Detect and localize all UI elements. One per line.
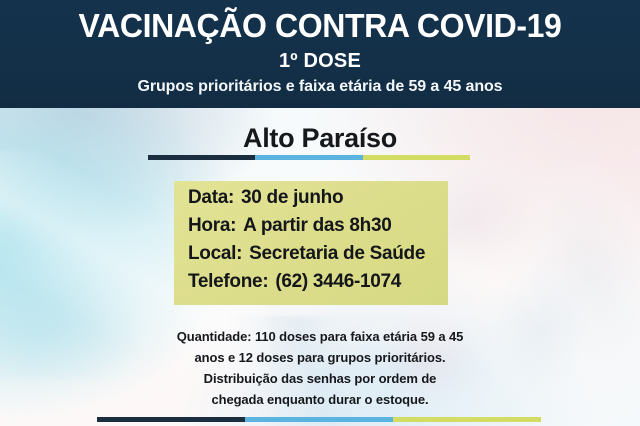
info-row-date: Data: 30 de junho	[188, 187, 448, 215]
header-band: VACINAÇÃO CONTRA COVID-19 1º DOSE Grupos…	[0, 0, 640, 108]
dose-subtitle: 1º DOSE	[0, 50, 640, 73]
divider-top	[148, 155, 470, 160]
quantity-line-2: anos e 12 doses para grupos prioritários…	[118, 347, 522, 368]
vaccination-announcement-poster: VACINAÇÃO CONTRA COVID-19 1º DOSE Grupos…	[0, 0, 640, 426]
divider-segment-dark	[148, 155, 255, 160]
quantity-note: Quantidade: 110 doses para faixa etária …	[118, 326, 522, 410]
quantity-line-3: Distribuição das senhas por ordem de	[118, 368, 522, 389]
divider-segment-blue	[255, 155, 362, 160]
info-row-location: Local: Secretaria de Saúde	[188, 243, 448, 271]
divider-bottom	[97, 417, 541, 422]
info-value-time: A partir das 8h30	[243, 215, 391, 237]
divider-segment-dark	[97, 417, 245, 422]
details-box: Data: 30 de junho Hora: A partir das 8h3…	[174, 181, 448, 305]
city-name: Alto Paraíso	[0, 123, 640, 154]
quantity-line-4: chegada enquanto durar o estoque.	[118, 389, 522, 410]
quantity-line-1: Quantidade: 110 doses para faixa etária …	[118, 326, 522, 347]
info-value-date: 30 de junho	[241, 187, 343, 209]
page-title: VACINAÇÃO CONTRA COVID-19	[10, 9, 631, 44]
info-value-phone: (62) 3446-1074	[275, 271, 401, 293]
divider-segment-green	[393, 417, 541, 422]
divider-segment-blue	[245, 417, 393, 422]
info-row-phone: Telefone: (62) 3446-1074	[188, 271, 448, 299]
audience-description: Grupos prioritários e faixa etária de 59…	[0, 78, 640, 96]
info-label-time: Hora:	[188, 215, 236, 237]
info-label-date: Data:	[188, 187, 234, 209]
info-value-location: Secretaria de Saúde	[249, 243, 425, 265]
info-label-location: Local:	[188, 243, 242, 265]
divider-segment-green	[363, 155, 470, 160]
info-row-time: Hora: A partir das 8h30	[188, 215, 448, 243]
info-label-phone: Telefone:	[188, 271, 268, 293]
